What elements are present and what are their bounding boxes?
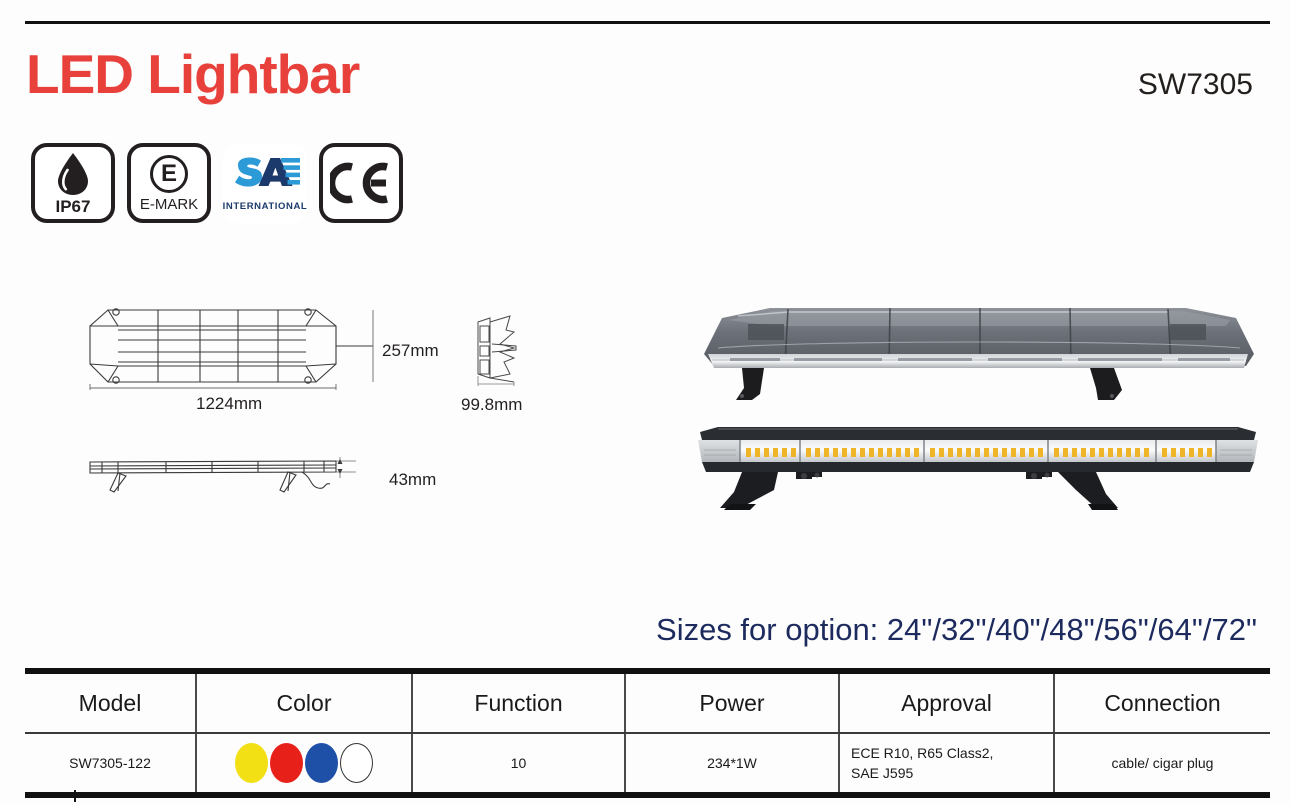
dimension-height-label: 43mm [389, 470, 436, 490]
water-drop-icon [55, 152, 91, 196]
ip67-badge: IP67 [31, 143, 115, 223]
datasheet-page: LED Lightbar SW7305 IP67 E E-MARK [0, 0, 1291, 805]
cell-function: 10 [412, 733, 625, 792]
table-header-row: Model Color Function Power Approval Conn… [25, 674, 1270, 733]
front-view-drawing [88, 452, 388, 505]
e-mark-icon: E [150, 155, 188, 193]
color-swatches [198, 743, 410, 783]
approval-line-1: ECE R10, R65 Class2, [851, 743, 1052, 763]
page-title: LED Lightbar [26, 47, 359, 102]
color-swatch-blue [305, 743, 338, 783]
certification-badges: IP67 E E-MARK [31, 143, 403, 223]
top-view-drawing [88, 306, 388, 396]
col-header-model: Model [25, 674, 196, 733]
col-header-color: Color [196, 674, 412, 733]
table-bottom-rule [25, 792, 1270, 798]
emark-label: E-MARK [140, 196, 198, 213]
page-tail-tick [74, 790, 76, 802]
dimension-length-label: 1224mm [196, 394, 262, 414]
spec-table: Model Color Function Power Approval Conn… [25, 668, 1270, 798]
model-number: SW7305 [1138, 68, 1253, 102]
sae-international-label: INTERNATIONAL [223, 201, 307, 212]
cell-connection: cable/ cigar plug [1054, 733, 1270, 792]
cell-model: SW7305-122 [25, 733, 196, 792]
color-swatch-white [340, 743, 373, 783]
ce-mark-icon [330, 161, 392, 205]
ce-badge [319, 143, 403, 223]
color-swatch-red [270, 743, 303, 783]
col-header-connection: Connection [1054, 674, 1270, 733]
sae-badge: INTERNATIONAL [223, 143, 307, 223]
cell-power: 234*1W [625, 733, 839, 792]
header-divider [25, 21, 1270, 24]
col-header-approval: Approval [839, 674, 1054, 733]
ip67-label: IP67 [56, 197, 91, 217]
lightbar-front-photo [678, 418, 1278, 528]
lightbar-perspective-photo [678, 296, 1278, 411]
dimension-width-label: 257mm [382, 341, 439, 361]
dimension-depth-label: 99.8mm [461, 395, 522, 415]
sizes-for-option: Sizes for option: 24"/32"/40"/48"/56"/64… [656, 612, 1257, 648]
color-swatch-yellow [235, 743, 268, 783]
cell-color [196, 733, 412, 792]
approval-line-2: SAE J595 [851, 763, 1052, 783]
col-header-function: Function [412, 674, 625, 733]
table-row: SW7305-122 10 234*1W ECE R10, R65 Class2… [25, 733, 1270, 792]
end-view-drawing [470, 312, 545, 397]
sae-international-icon [228, 154, 302, 199]
cell-approval: ECE R10, R65 Class2, SAE J595 [839, 733, 1054, 792]
col-header-power: Power [625, 674, 839, 733]
emark-badge: E E-MARK [127, 143, 211, 223]
